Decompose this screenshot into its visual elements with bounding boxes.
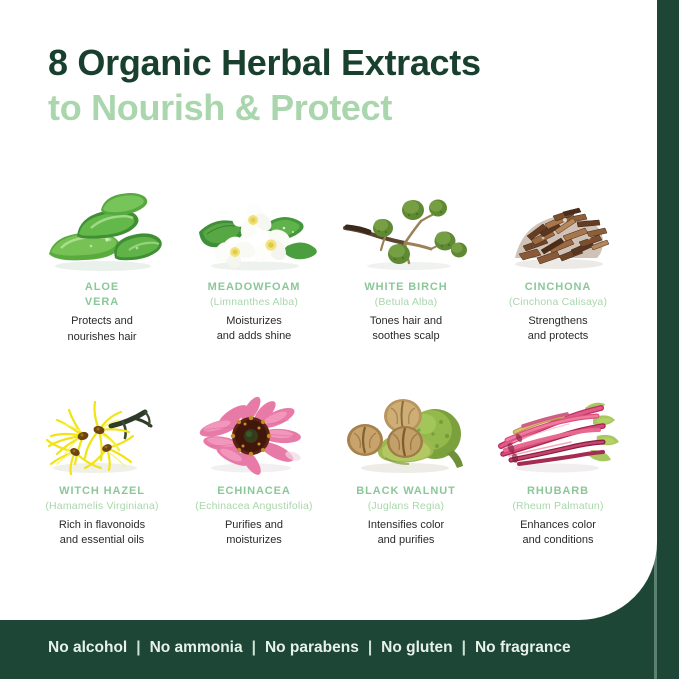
extract-card-witch-hazel: WITCH HAZEL (Hamamelis Virginiana) Rich …	[26, 392, 178, 549]
extract-names: BLACK WALNUT (Juglans Regia)	[356, 484, 455, 514]
extract-row-2: WITCH HAZEL (Hamamelis Virginiana) Rich …	[26, 392, 634, 549]
extract-common-name: ECHINACEA	[195, 484, 312, 499]
benefit-line-2: nourishes hair	[67, 331, 136, 343]
claim-separator: |	[359, 639, 381, 657]
footer-claims-bar: No alcohol | No ammonia | No parabens | …	[0, 617, 679, 679]
extract-benefit: Rich in flavonoids and essential oils	[59, 518, 145, 550]
benefit-line-1: Purifies and	[225, 519, 283, 531]
footer-claims-list: No alcohol | No ammonia | No parabens | …	[48, 639, 571, 657]
extract-common-name: BLACK WALNUT	[356, 484, 455, 499]
claim-separator: |	[127, 639, 149, 657]
extract-card-rhubarb: RHUBARB (Rheum Palmatun) Enhances color …	[482, 392, 634, 549]
extract-names: RHUBARB (Rheum Palmatun)	[512, 484, 603, 514]
benefit-line-2: and essential oils	[60, 534, 144, 546]
claim-separator: |	[243, 639, 265, 657]
page-title: 8 Organic Herbal Extracts	[48, 44, 481, 83]
extract-benefit: Protects and nourishes hair	[67, 314, 136, 346]
extract-latin-name: (Betula Alba)	[364, 295, 447, 310]
white-content-panel: 8 Organic Herbal Extracts to Nourish & P…	[0, 0, 657, 620]
extract-names: ECHINACEA (Echinacea Angustifolia)	[195, 484, 312, 514]
extract-latin-name: (Hamamelis Virginiana)	[45, 499, 158, 514]
claim-no-gluten: No gluten	[381, 639, 452, 657]
claim-separator: |	[453, 639, 475, 657]
white-birch-catkins-branch-icon	[341, 188, 471, 272]
benefit-line-1: Intensifies color	[368, 519, 444, 531]
benefit-line-1: Moisturizes	[226, 315, 282, 327]
meadowfoam-white-flowers-icon	[189, 188, 319, 272]
benefit-line-1: Tones hair and	[370, 315, 442, 327]
extract-names: CINCHONA (Cinchona Calisaya)	[509, 280, 607, 310]
extract-latin-name: (Limnanthes Alba)	[208, 295, 301, 310]
benefit-line-1: Strengthens	[528, 315, 587, 327]
benefit-line-2: and conditions	[523, 534, 594, 546]
extract-benefit: Intensifies color and purifies	[368, 518, 444, 550]
cinchona-bark-chips-icon	[493, 188, 623, 272]
extract-row-1: ALOE VERA Protects and nourishes hair	[26, 188, 634, 346]
heading-block: 8 Organic Herbal Extracts to Nourish & P…	[48, 44, 481, 129]
benefit-line-1: Protects and	[71, 315, 133, 327]
extract-common-name: CINCHONA	[509, 280, 607, 295]
aloe-vera-leaf-segments-icon	[37, 188, 167, 272]
extract-names: WHITE BIRCH (Betula Alba)	[364, 280, 447, 310]
benefit-line-1: Rich in flavonoids	[59, 519, 145, 531]
extract-card-black-walnut: BLACK WALNUT (Juglans Regia) Intensifies…	[330, 392, 482, 549]
page-subtitle: to Nourish & Protect	[48, 87, 481, 129]
extract-names: MEADOWFOAM (Limnanthes Alba)	[208, 280, 301, 310]
extract-benefit: Purifies and moisturizes	[225, 518, 283, 550]
extract-latin-name: (Rheum Palmatun)	[512, 499, 603, 514]
extract-card-meadowfoam: MEADOWFOAM (Limnanthes Alba) Moisturizes…	[178, 188, 330, 346]
extract-common-name: MEADOWFOAM	[208, 280, 301, 295]
benefit-line-1: Enhances color	[520, 519, 596, 531]
extract-names: WITCH HAZEL (Hamamelis Virginiana)	[45, 484, 158, 514]
claim-no-alcohol: No alcohol	[48, 639, 127, 657]
extract-latin-name: (Cinchona Calisaya)	[509, 295, 607, 310]
extract-benefit: Moisturizes and adds shine	[217, 314, 292, 346]
claim-no-ammonia: No ammonia	[150, 639, 243, 657]
rhubarb-pink-stalks-icon	[493, 392, 623, 476]
common-name-line-2: VERA	[85, 296, 119, 308]
extract-common-name: WHITE BIRCH	[364, 280, 447, 295]
benefit-line-2: soothes scalp	[372, 330, 439, 342]
extract-benefit: Tones hair and soothes scalp	[370, 314, 442, 346]
extract-latin-name: (Echinacea Angustifolia)	[195, 499, 312, 514]
extract-card-echinacea: ECHINACEA (Echinacea Angustifolia) Purif…	[178, 392, 330, 549]
extract-names: ALOE VERA	[85, 280, 119, 310]
common-name-line-1: ALOE	[85, 281, 119, 293]
extract-card-white-birch: WHITE BIRCH (Betula Alba) Tones hair and…	[330, 188, 482, 346]
extract-common-name: RHUBARB	[512, 484, 603, 499]
echinacea-pink-coneflower-icon	[189, 392, 319, 476]
claim-no-parabens: No parabens	[265, 639, 359, 657]
benefit-line-2: and adds shine	[217, 330, 292, 342]
witch-hazel-yellow-bloom-icon	[37, 392, 167, 476]
benefit-line-2: and purifies	[378, 534, 435, 546]
extract-card-aloe-vera: ALOE VERA Protects and nourishes hair	[26, 188, 178, 346]
extract-benefit: Enhances color and conditions	[520, 518, 596, 550]
extract-common-name: ALOE VERA	[85, 280, 119, 310]
claim-no-fragrance: No fragrance	[475, 639, 571, 657]
extract-card-cinchona: CINCHONA (Cinchona Calisaya) Strengthens…	[482, 188, 634, 346]
extract-common-name: WITCH HAZEL	[45, 484, 158, 499]
extract-benefit: Strengthens and protects	[528, 314, 589, 346]
benefit-line-2: moisturizes	[226, 534, 282, 546]
extract-latin-name: (Juglans Regia)	[356, 499, 455, 514]
black-walnut-nuts-husk-icon	[341, 392, 471, 476]
benefit-line-2: and protects	[528, 330, 589, 342]
